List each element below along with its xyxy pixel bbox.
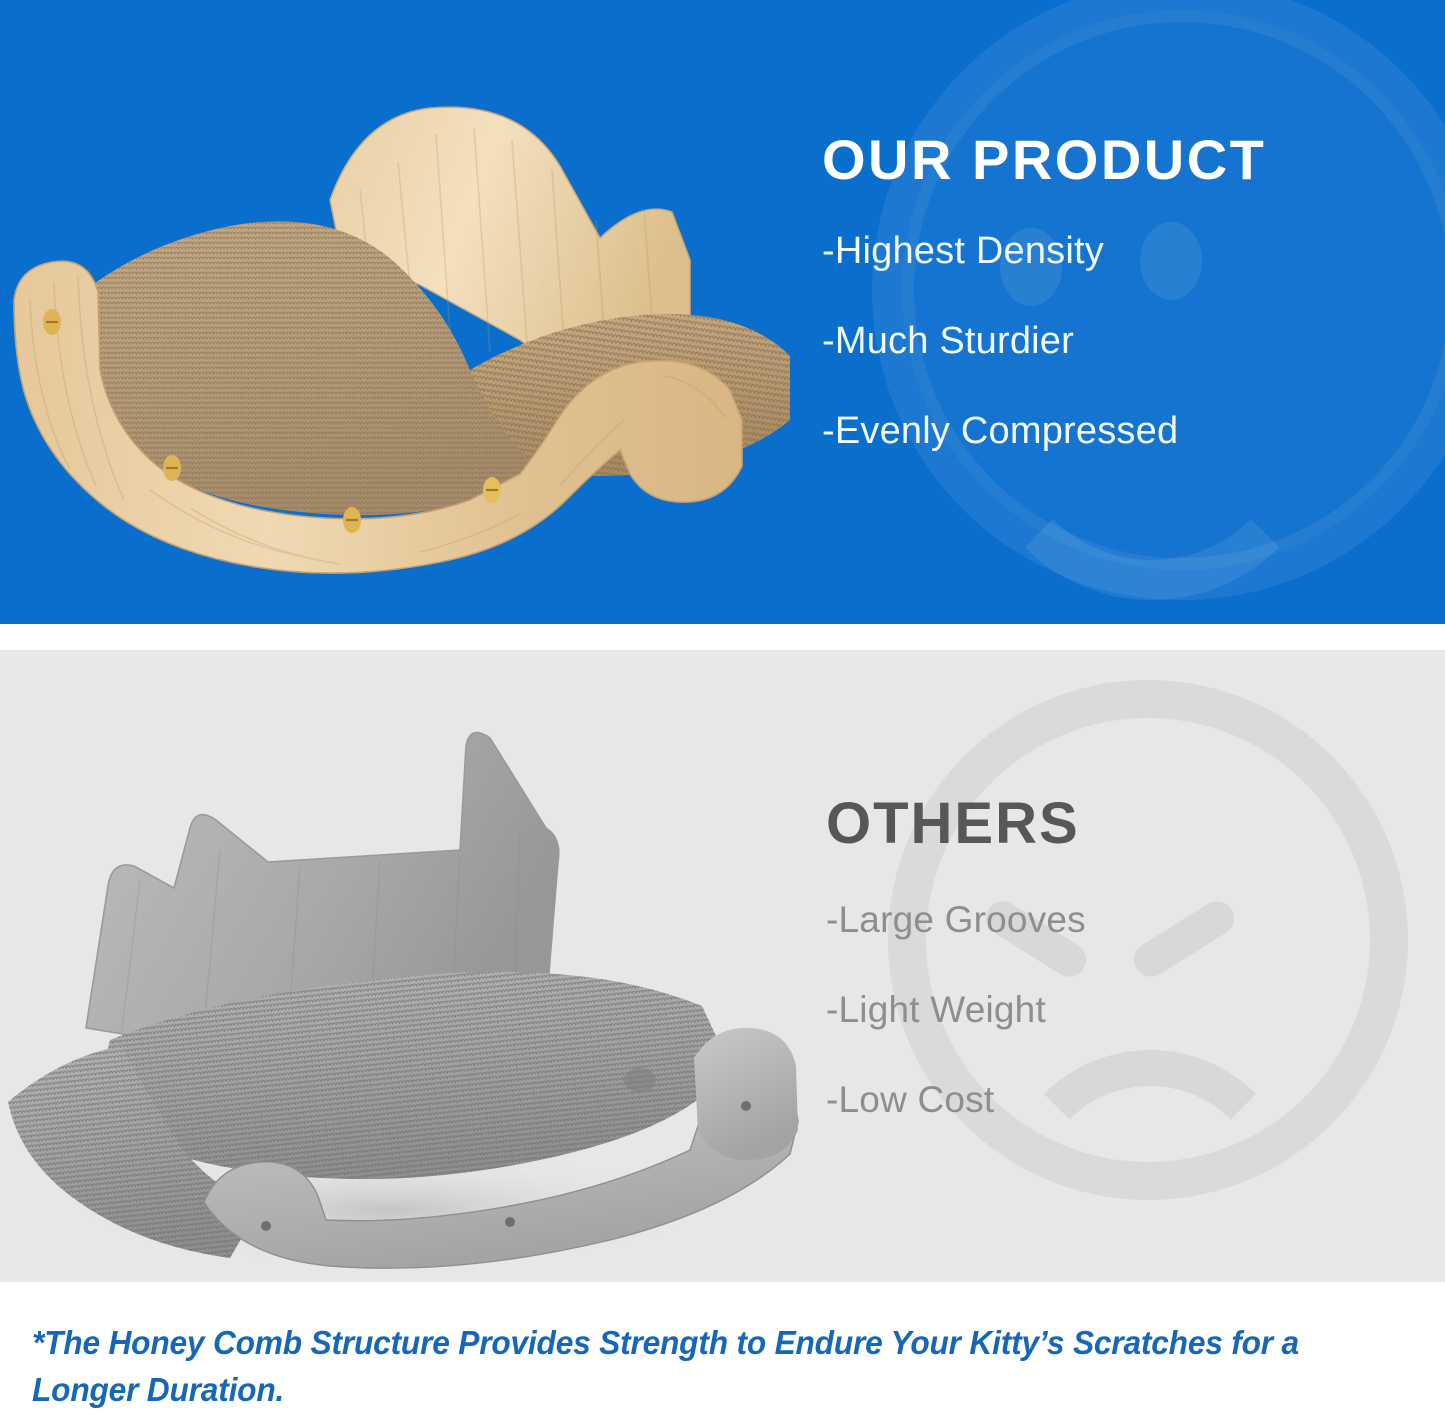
our-product-bullet-list: -Highest Density -Much Sturdier -Evenly … [822, 232, 1432, 450]
others-bullet-3: -Low Cost [826, 1081, 1426, 1118]
others-text-block: OTHERS -Large Grooves -Light Weight -Low… [826, 795, 1426, 1118]
footer-bar: *The Honey Comb Structure Provides Stren… [0, 1282, 1445, 1423]
our-product-bullet-3: -Evenly Compressed [822, 412, 1432, 450]
others-bullet-1: -Large Grooves [826, 901, 1426, 938]
our-product-bullet-2: -Much Sturdier [822, 322, 1432, 360]
panel-divider [0, 624, 1445, 650]
honeycomb-note: *The Honey Comb Structure Provides Stren… [32, 1320, 1357, 1414]
our-product-heading: OUR PRODUCT [822, 132, 1432, 188]
others-heading: OTHERS [826, 795, 1426, 853]
others-bullet-2: -Light Weight [826, 991, 1426, 1028]
others-product-photo [0, 710, 810, 1270]
our-product-photo [0, 70, 810, 590]
others-bullet-list: -Large Grooves -Light Weight -Low Cost [826, 901, 1426, 1118]
our-product-panel: OUR PRODUCT -Highest Density -Much Sturd… [0, 0, 1445, 624]
our-product-bullet-1: -Highest Density [822, 232, 1432, 270]
our-product-text-block: OUR PRODUCT -Highest Density -Much Sturd… [822, 132, 1432, 450]
others-panel: OTHERS -Large Grooves -Light Weight -Low… [0, 650, 1445, 1282]
